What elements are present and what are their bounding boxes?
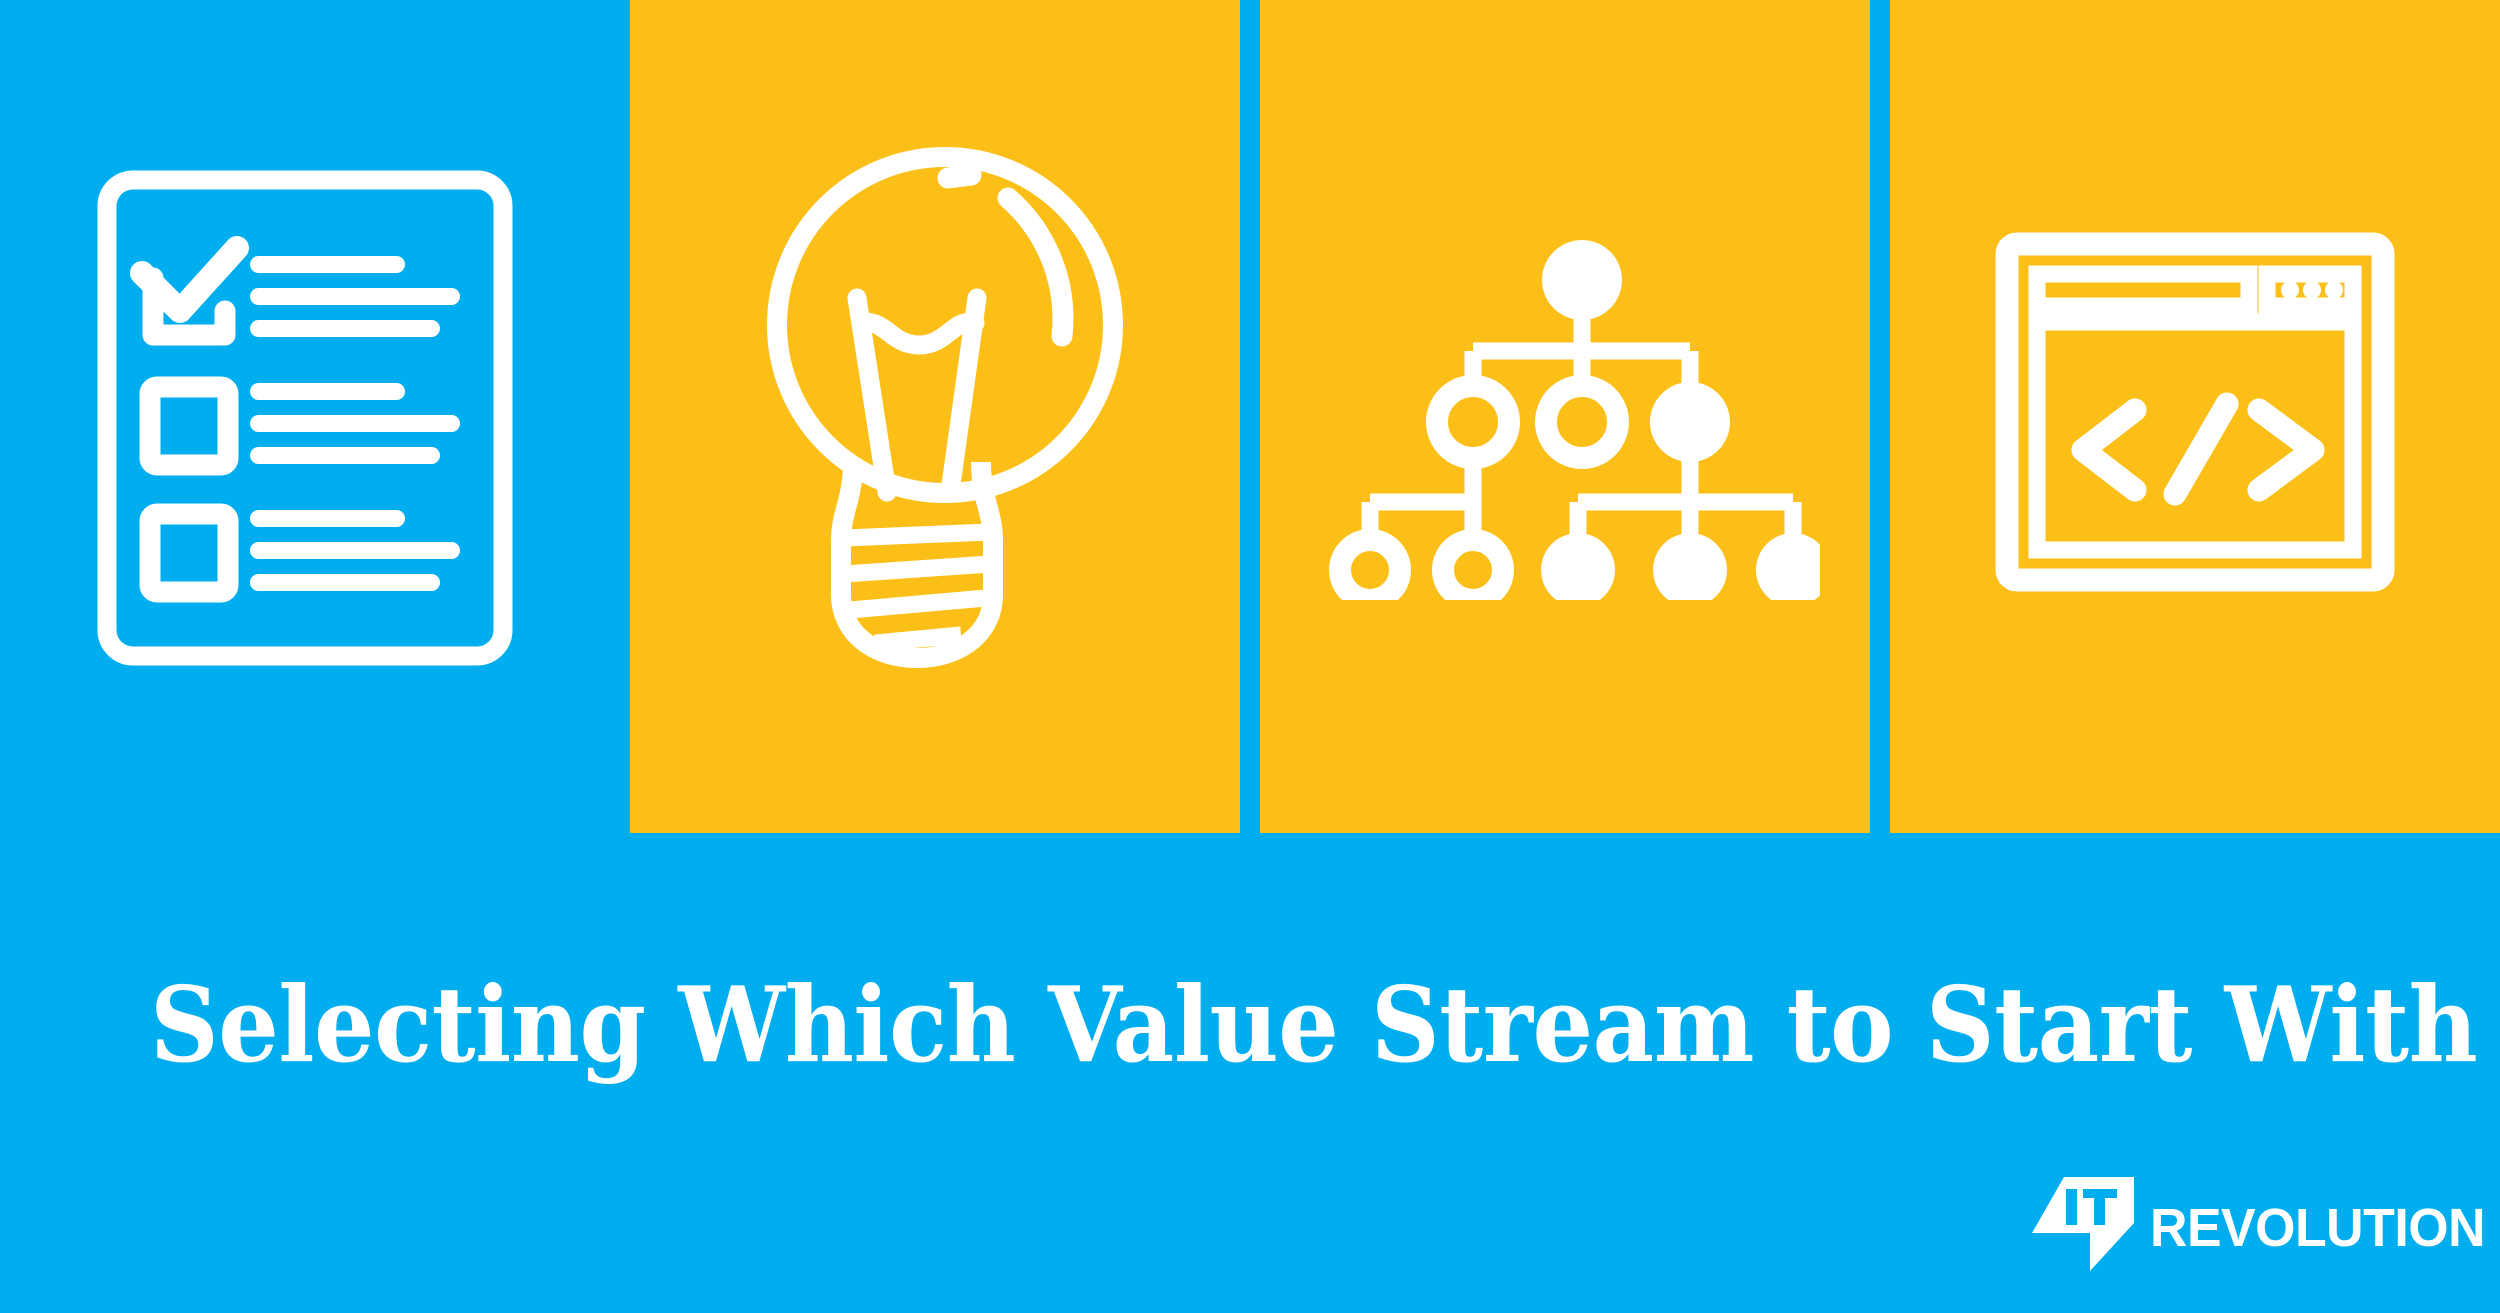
code-window-icon-slot xyxy=(1995,232,2395,592)
org-chart-icon-slot xyxy=(1310,240,1820,600)
code-window-icon xyxy=(1995,232,2395,592)
panel-checklist xyxy=(95,168,515,668)
poster-canvas: Selecting Which Value Stream to Start Wi… xyxy=(0,0,2500,1313)
page-title: Selecting Which Value Stream to Start Wi… xyxy=(150,970,2181,1079)
lightbulb-icon-slot xyxy=(745,140,1145,700)
it-revolution-mark-icon xyxy=(2030,1175,2156,1257)
org-chart-icon xyxy=(1310,240,1820,600)
lightbulb-icon xyxy=(745,140,1145,700)
it-revolution-wordmark: REVOLUTION xyxy=(2150,1201,2485,1255)
icon-band xyxy=(0,0,2500,853)
speech-bubble-mark-icon xyxy=(2030,1175,2156,1275)
it-revolution-logo: REVOLUTION xyxy=(2030,1175,2499,1257)
checklist-icon xyxy=(95,168,515,668)
